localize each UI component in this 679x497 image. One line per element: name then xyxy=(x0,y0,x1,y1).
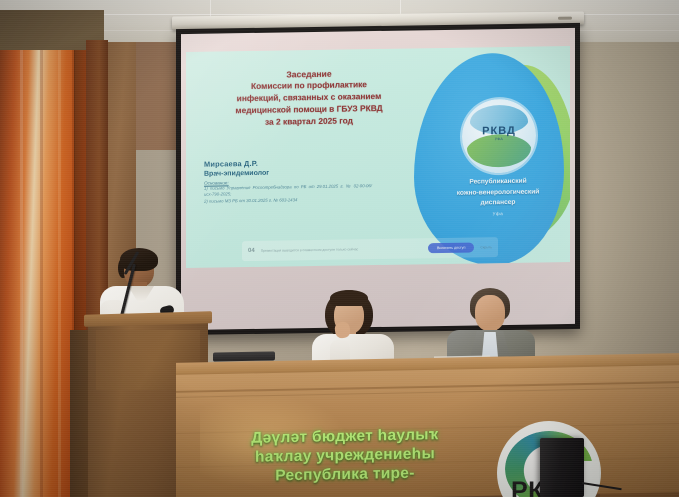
conference-room-photo: Заседание Комиссии по профилактике инфек… xyxy=(0,0,679,497)
overlay-number: 04 xyxy=(248,248,255,254)
rkvd-caption-line-3: диспансер xyxy=(432,197,564,210)
screen-share-overlay[interactable]: 04 Презентация выводится в совместном до… xyxy=(242,237,498,261)
slide-title-line-5: за 2 квартал 2025 год xyxy=(200,114,418,129)
rk-logo-text: РК xyxy=(511,477,544,497)
seated-woman-fringe xyxy=(330,290,368,306)
rkvd-caption: Республиканский кожно-венерологический д… xyxy=(432,176,564,210)
laptop-on-table xyxy=(213,351,275,361)
overlay-hide-link[interactable]: Скрыть xyxy=(480,245,492,249)
presenter-name: Мирсаева Д.Р. xyxy=(204,157,404,169)
presentation-slide: Заседание Комиссии по профилактике инфек… xyxy=(186,46,570,268)
black-device-on-table xyxy=(540,438,584,497)
table-banner-text: Дәүләт бюджет һаулыҡ һаҡлау учреждениеһы… xyxy=(185,425,505,488)
overlay-share-button[interactable]: Включить доступ xyxy=(428,242,474,253)
slide-title: Заседание Комиссии по профилактике инфек… xyxy=(200,66,418,129)
slide-presenter-block: Мирсаева Д.Р. Врач-эпидемиолог Основание… xyxy=(204,157,404,205)
overlay-text: Презентация выводится в совместном досту… xyxy=(261,246,422,253)
reference-line-2: 2) письмо МЗ РБ от 30.01.2025 г. № 603-1… xyxy=(204,196,372,205)
presenter-role: Врач-эпидемиолог xyxy=(204,168,404,178)
screen-housing-knob xyxy=(558,17,572,20)
